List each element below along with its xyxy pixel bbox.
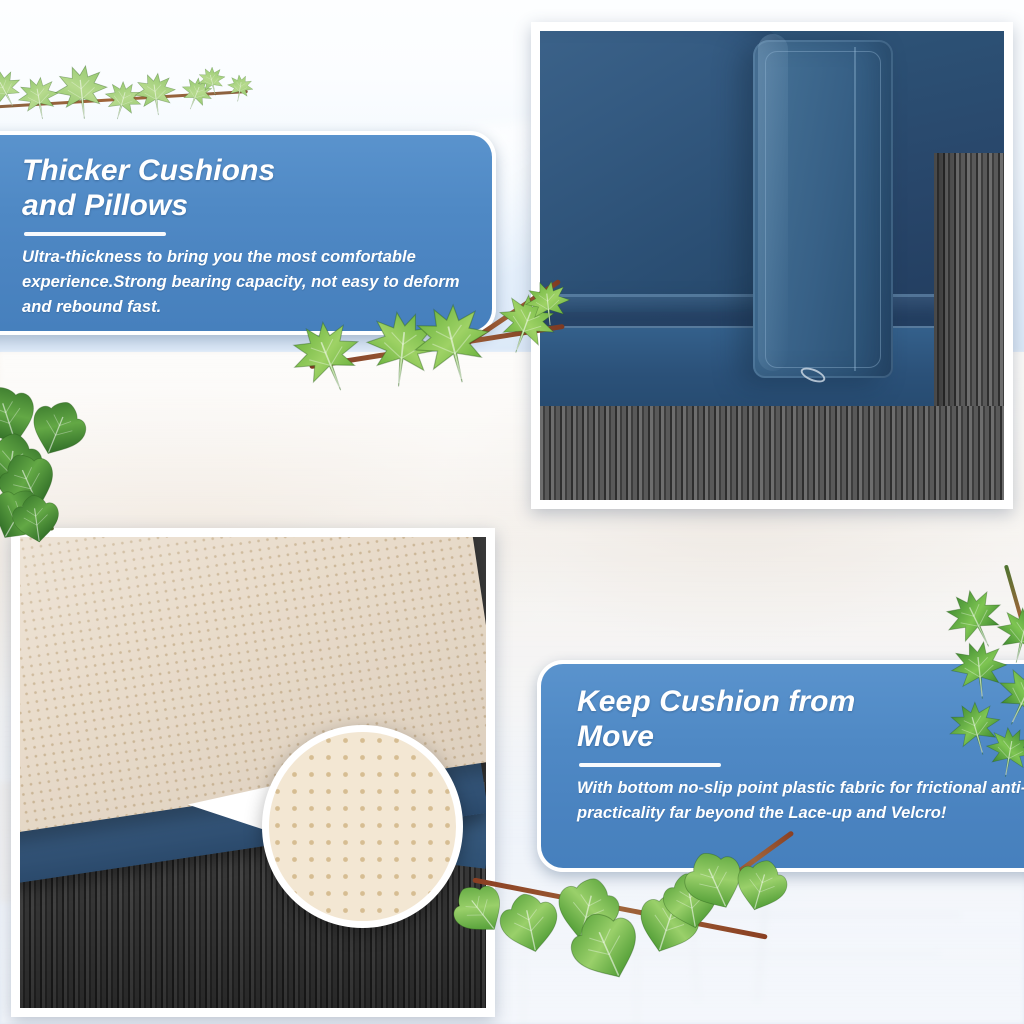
heading-divider (579, 763, 721, 767)
magnified-fabric-callout (262, 725, 462, 928)
wicker-base (540, 406, 1004, 500)
ivy-vine-top-left (0, 62, 256, 132)
ivy-cluster-left-edge (0, 380, 104, 540)
panel-heading: Thicker Cushions and Pillows (22, 153, 466, 223)
heading-divider (24, 232, 166, 236)
ivy-vine-bottom (470, 852, 840, 1012)
ivy-cluster-right-edge (952, 586, 1024, 776)
infographic-canvas: Thicker Cushions and Pillows Ultra-thick… (0, 0, 1024, 1024)
ivy-vine-center (300, 300, 570, 420)
ivy-leaf-icon (8, 491, 64, 547)
panel-body-text: With bottom no-slip point plastic fabric… (577, 776, 1024, 826)
pillow-seam-edge (854, 47, 856, 371)
cushion-upright-pillow (753, 40, 892, 378)
ivy-leaf-icon (980, 722, 1024, 782)
pillow-seam (765, 51, 882, 368)
ivy-leaf-icon (224, 72, 256, 104)
photo-cushion-closeup (531, 22, 1013, 509)
ivy-leaf-icon (131, 69, 181, 119)
ivy-leaf-icon (522, 278, 575, 331)
photo-antislip-closeup (11, 528, 495, 1017)
